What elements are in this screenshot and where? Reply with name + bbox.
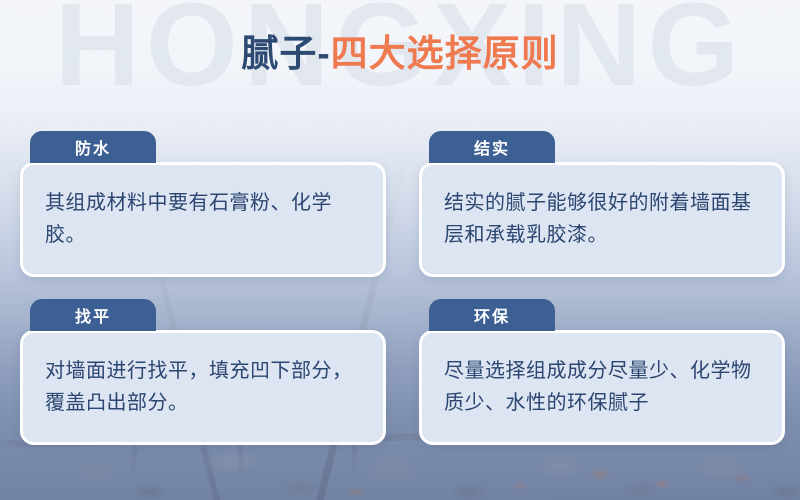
- card-body-waterproof: 其组成材料中要有石膏粉、化学胶。: [20, 162, 386, 277]
- poster-canvas: HONGXING 腻子-四大选择原则 防水 其组成材料中要有石膏粉、化学胶。 结…: [0, 0, 800, 500]
- card-tab-label-eco: 环保: [429, 299, 555, 331]
- principle-card-sturdy: 结实 结实的腻子能够很好的附着墙面基层和承载乳胶漆。: [419, 131, 785, 277]
- card-body-eco: 尽量选择组成成分尽量少、化学物质少、水性的环保腻子: [419, 330, 785, 445]
- principle-card-eco: 环保 尽量选择组成成分尽量少、化学物质少、水性的环保腻子: [419, 299, 785, 445]
- page-title: 腻子-四大选择原则: [0, 33, 800, 76]
- page-title-prefix: 腻子-: [241, 33, 330, 74]
- card-tab-label-waterproof: 防水: [30, 131, 156, 163]
- card-text-leveling: 对墙面进行找平，填充凹下部分，覆盖凸出部分。: [45, 355, 363, 420]
- page-title-accent: 四大选择原则: [331, 33, 559, 74]
- card-text-eco: 尽量选择组成成分尽量少、化学物质少、水性的环保腻子: [444, 355, 762, 420]
- principle-card-leveling: 找平 对墙面进行找平，填充凹下部分，覆盖凸出部分。: [20, 299, 386, 445]
- principle-card-grid: 防水 其组成材料中要有石膏粉、化学胶。 结实 结实的腻子能够很好的附着墙面基层和…: [20, 131, 785, 445]
- card-body-sturdy: 结实的腻子能够很好的附着墙面基层和承载乳胶漆。: [419, 162, 785, 277]
- card-body-leveling: 对墙面进行找平，填充凹下部分，覆盖凸出部分。: [20, 330, 386, 445]
- principle-card-waterproof: 防水 其组成材料中要有石膏粉、化学胶。: [20, 131, 386, 277]
- card-text-waterproof: 其组成材料中要有石膏粉、化学胶。: [45, 187, 363, 252]
- card-tab-label-leveling: 找平: [30, 299, 156, 331]
- card-tab-label-sturdy: 结实: [429, 131, 555, 163]
- card-text-sturdy: 结实的腻子能够很好的附着墙面基层和承载乳胶漆。: [444, 187, 762, 252]
